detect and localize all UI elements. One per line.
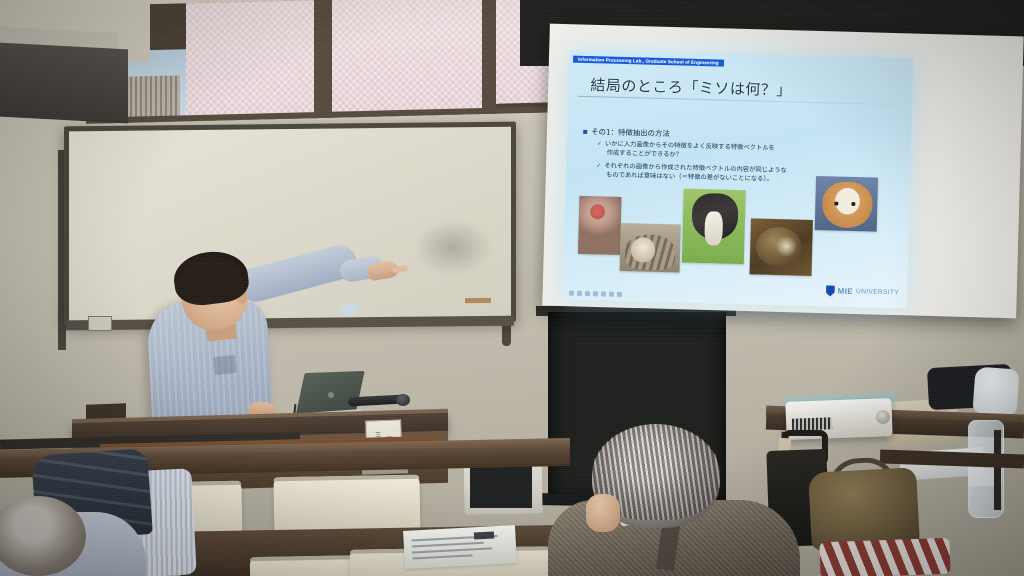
mie-university-logo: MIE UNIVERSITY [826,285,900,298]
pen-icon[interactable] [569,291,574,296]
slide-subitem-2-label: 作成することができるか？ [607,150,683,159]
window-pane-2 [332,0,482,118]
audience-hand [586,494,620,532]
tortoise-photo [750,218,813,276]
whiteboard-label [88,316,112,331]
slide-content: Information Processing Lab., Graduate Sc… [563,50,913,309]
slide-banner: Information Processing Lab., Graduate Sc… [573,56,724,67]
check-icon-2: ✓ [596,162,601,169]
cow-photo [682,189,746,265]
prev-icon[interactable] [609,292,614,297]
cat-photo [620,223,681,273]
document-stamp [474,531,494,539]
shield-icon [826,285,835,296]
more-icon[interactable] [617,292,622,297]
window-mullion-2 [482,0,496,114]
monkey-photo [578,196,622,255]
square-bullet-icon [583,130,587,134]
whiteboard-shadow [413,218,493,277]
slide-bullet-1-label: その1：特徴抽出の方法 [591,127,670,138]
light-reflection [336,300,364,318]
document-on-desk [403,525,517,569]
microphone-head [396,394,410,406]
check-icon: ✓ [597,140,602,147]
pointer-icon[interactable] [585,291,590,296]
whiteboard-brand-tag [465,298,491,303]
brown-duffel-bag [808,467,920,551]
highlighter-icon[interactable] [577,291,582,296]
logo-text-university: UNIVERSITY [856,288,899,296]
lecture-room-photo: Information Processing Lab., Graduate Sc… [0,0,1024,576]
tissue-bundle [972,367,1019,416]
slide-bullet-1: その1：特徴抽出の方法 [583,126,670,139]
window-mullion-1 [314,0,332,120]
slides-icon[interactable] [593,291,598,296]
presenter-shirt-pocket [213,355,237,375]
table-leg-2 [994,430,1001,510]
logo-text-mie: MIE [838,287,854,296]
whiteboard [64,122,516,327]
presenter-toolbar[interactable] [569,291,622,297]
projector-vent [792,417,832,430]
window-group [86,0,556,124]
window-pane-1 [186,0,314,121]
ceiling-duct [0,43,128,124]
next-icon[interactable] [601,291,606,296]
slide-subitem-2: 作成することができるか？ [607,150,683,161]
patterned-cloth [819,538,950,576]
projected-slide: Information Processing Lab., Graduate Sc… [563,50,913,309]
dog-photo [815,176,878,232]
laptop-logo [328,392,334,398]
